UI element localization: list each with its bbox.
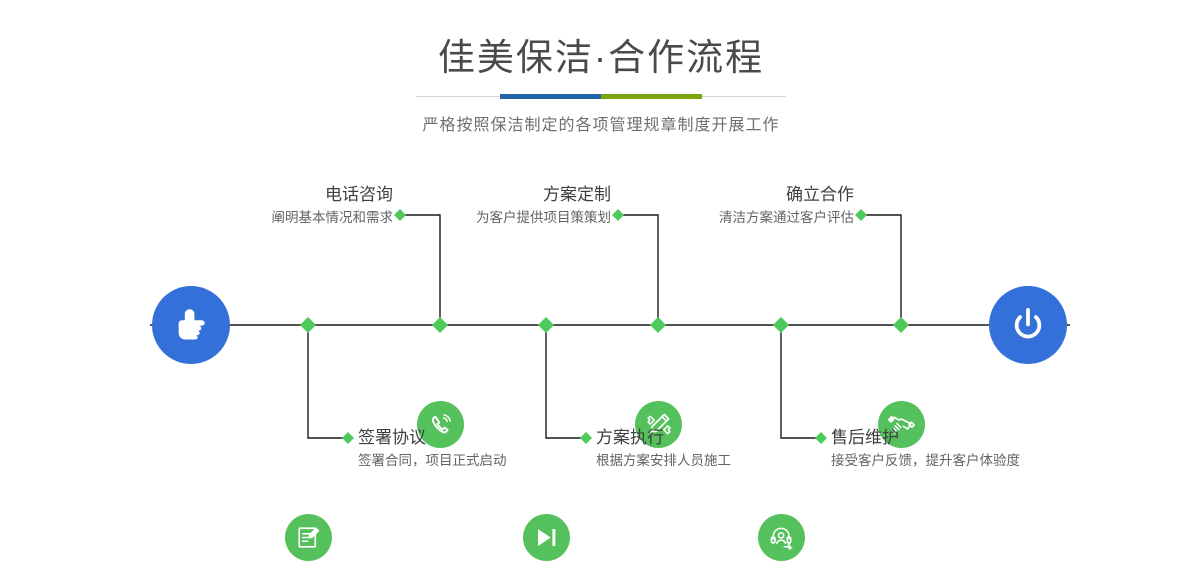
label-diamond-markers bbox=[342, 209, 867, 444]
step-title-6: 售后维护 bbox=[831, 427, 1020, 448]
step-label-2: 签署协议 签署合同，项目正式启动 bbox=[358, 427, 507, 471]
connector-step-1 bbox=[402, 215, 440, 325]
step-desc-4: 根据方案安排人员施工 bbox=[596, 451, 731, 471]
page-subtitle: 严格按照保洁制定的各项管理规章制度开展工作 bbox=[0, 99, 1202, 135]
flow-end-node[interactable] bbox=[989, 286, 1067, 364]
process-flow-diagram: 电话咨询 阐明基本情况和需求 方案定制 为客户提供项目策策划 确立合作 清洁方案… bbox=[0, 160, 1202, 502]
divider-segment-green bbox=[601, 94, 702, 99]
step-title-4: 方案执行 bbox=[596, 427, 731, 448]
step-label-6: 售后维护 接受客户反馈，提升客户体验度 bbox=[831, 427, 1020, 471]
pointing-hand-icon bbox=[169, 303, 213, 347]
play-next-icon bbox=[533, 524, 560, 551]
step-node-4[interactable] bbox=[523, 514, 570, 561]
step-desc-5: 清洁方案通过客户评估 bbox=[520, 208, 854, 228]
connector-step-3 bbox=[620, 215, 658, 325]
page-header: 佳美保洁·合作流程 严格按照保洁制定的各项管理规章制度开展工作 bbox=[0, 0, 1202, 135]
step-node-2[interactable] bbox=[285, 514, 332, 561]
connector-step-2 bbox=[308, 325, 346, 438]
customer-service-icon bbox=[768, 524, 796, 552]
step-title-2: 签署协议 bbox=[358, 427, 507, 448]
page-title: 佳美保洁·合作流程 bbox=[0, 0, 1202, 80]
step-label-5: 确立合作 清洁方案通过客户评估 bbox=[520, 184, 854, 228]
connector-step-6 bbox=[781, 325, 819, 438]
step-title-5: 确立合作 bbox=[520, 184, 854, 205]
connector-step-4 bbox=[546, 325, 584, 438]
step-node-6[interactable] bbox=[758, 514, 805, 561]
step-desc-6: 接受客户反馈，提升客户体验度 bbox=[831, 451, 1020, 471]
step-desc-2: 签署合同，项目正式启动 bbox=[358, 451, 507, 471]
power-button-icon bbox=[1006, 303, 1050, 347]
step-label-4: 方案执行 根据方案安排人员施工 bbox=[596, 427, 731, 471]
document-sign-icon bbox=[295, 524, 322, 551]
connector-step-5 bbox=[863, 215, 901, 325]
title-divider bbox=[416, 94, 786, 99]
flow-start-node[interactable] bbox=[152, 286, 230, 364]
divider-segment-blue bbox=[500, 94, 601, 99]
